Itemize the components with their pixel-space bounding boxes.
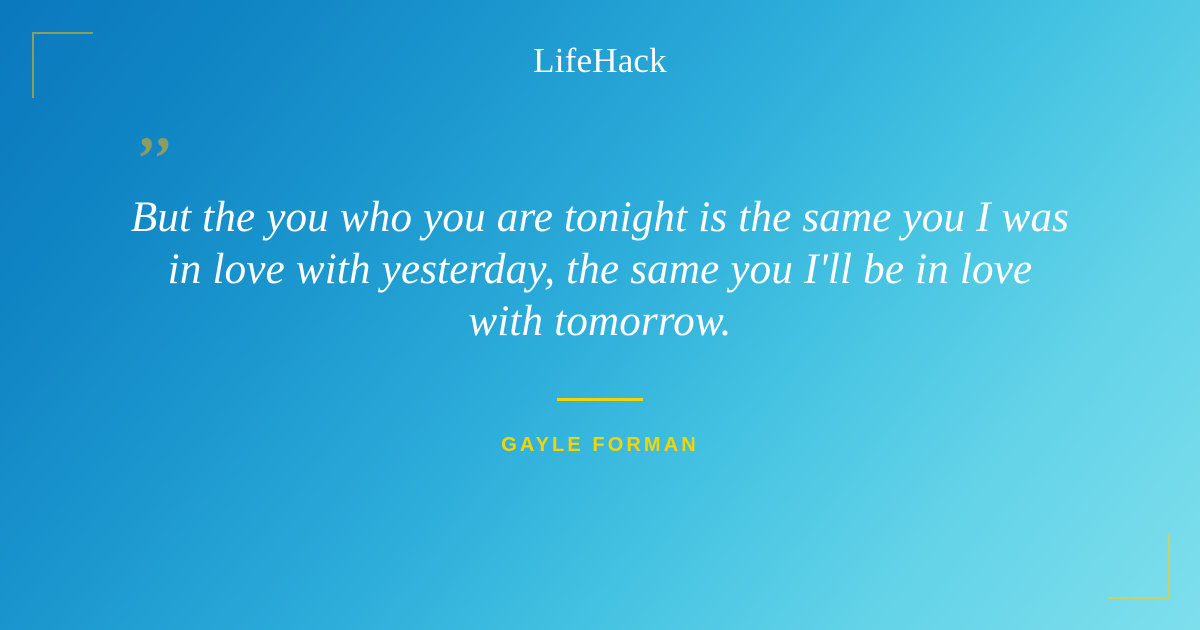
attribution: GAYLE FORMAN (0, 398, 1200, 457)
author-name: GAYLE FORMAN (0, 433, 1200, 457)
quote-block: ’’ But the you who you are tonight is th… (0, 130, 1200, 348)
corner-bracket-bottom-right-icon (1108, 534, 1170, 599)
quotation-mark-icon: ’’ (134, 130, 1200, 192)
brand-logo: LifeHack (0, 41, 1200, 81)
quote-card: LifeHack ’’ But the you who you are toni… (0, 0, 1200, 630)
author-divider (557, 398, 643, 401)
quote-text: But the you who you are tonight is the s… (125, 192, 1075, 348)
